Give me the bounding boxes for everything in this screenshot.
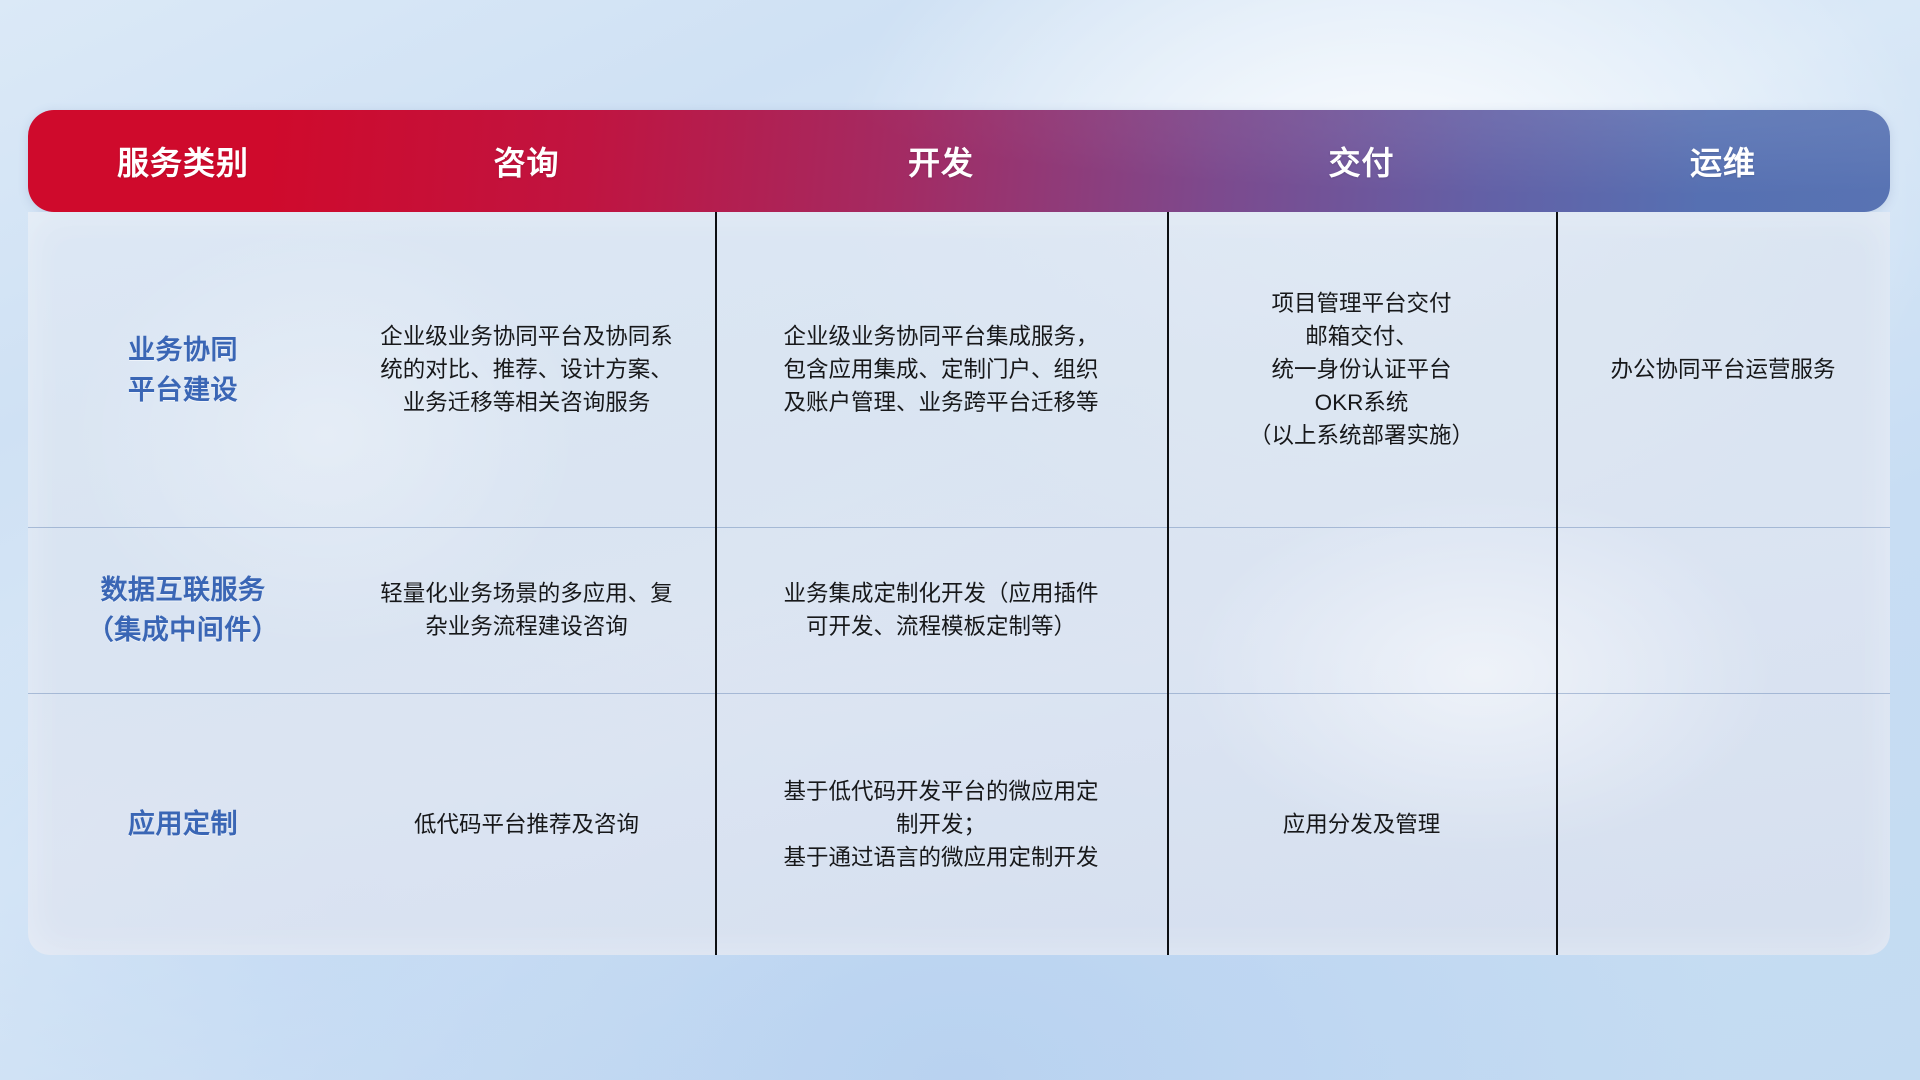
cell-consulting: 低代码平台推荐及咨询 bbox=[338, 808, 715, 841]
cell-development: 业务集成定制化开发（应用插件 可开发、流程模板定制等） bbox=[715, 577, 1167, 643]
table-header-cell-operations: 运维 bbox=[1556, 138, 1890, 184]
table-body: 业务协同 平台建设 企业级业务协同平台及协同系 统的对比、推荐、设计方案、 业务… bbox=[28, 212, 1890, 955]
row-category-label: 应用定制 bbox=[28, 804, 338, 844]
row-divider-2 bbox=[28, 693, 1890, 694]
column-divider-consulting-development bbox=[715, 212, 717, 955]
table-header-row: 服务类别 咨询 开发 交付 运维 bbox=[28, 110, 1890, 212]
cell-delivery: 应用分发及管理 bbox=[1167, 808, 1556, 841]
table-header-cell-consulting: 咨询 bbox=[338, 138, 715, 184]
table-row: 数据互联服务 （集成中间件） 轻量化业务场景的多应用、复 杂业务流程建设咨询 业… bbox=[28, 527, 1890, 693]
cell-development: 企业级业务协同平台集成服务， 包含应用集成、定制门户、组织 及账户管理、业务跨平… bbox=[715, 320, 1167, 419]
slide-canvas: 服务类别 咨询 开发 交付 运维 业务协同 平台建设 企业级业务协同平台及协同系… bbox=[0, 0, 1920, 1080]
row-divider-1 bbox=[28, 527, 1890, 528]
cell-delivery: 项目管理平台交付 邮箱交付、 统一身份认证平台 OKR系统 （以上系统部署实施） bbox=[1167, 287, 1556, 452]
column-divider-delivery-operations bbox=[1556, 212, 1558, 955]
column-divider-development-delivery bbox=[1167, 212, 1169, 955]
cell-operations: 办公协同平台运营服务 bbox=[1556, 353, 1890, 386]
table-header-cell-development: 开发 bbox=[715, 138, 1167, 184]
row-category-label: 数据互联服务 （集成中间件） bbox=[28, 570, 338, 650]
table-row: 业务协同 平台建设 企业级业务协同平台及协同系 统的对比、推荐、设计方案、 业务… bbox=[28, 212, 1890, 527]
cell-consulting: 企业级业务协同平台及协同系 统的对比、推荐、设计方案、 业务迁移等相关咨询服务 bbox=[338, 320, 715, 419]
cell-development: 基于低代码开发平台的微应用定 制开发； 基于通过语言的微应用定制开发 bbox=[715, 775, 1167, 874]
table-header-cell-service-category: 服务类别 bbox=[28, 138, 338, 184]
table-row: 应用定制 低代码平台推荐及咨询 基于低代码开发平台的微应用定 制开发； 基于通过… bbox=[28, 693, 1890, 955]
table-header-cell-delivery: 交付 bbox=[1167, 138, 1556, 184]
service-matrix-table: 服务类别 咨询 开发 交付 运维 业务协同 平台建设 企业级业务协同平台及协同系… bbox=[28, 110, 1890, 955]
cell-consulting: 轻量化业务场景的多应用、复 杂业务流程建设咨询 bbox=[338, 577, 715, 643]
row-category-label: 业务协同 平台建设 bbox=[28, 330, 338, 410]
